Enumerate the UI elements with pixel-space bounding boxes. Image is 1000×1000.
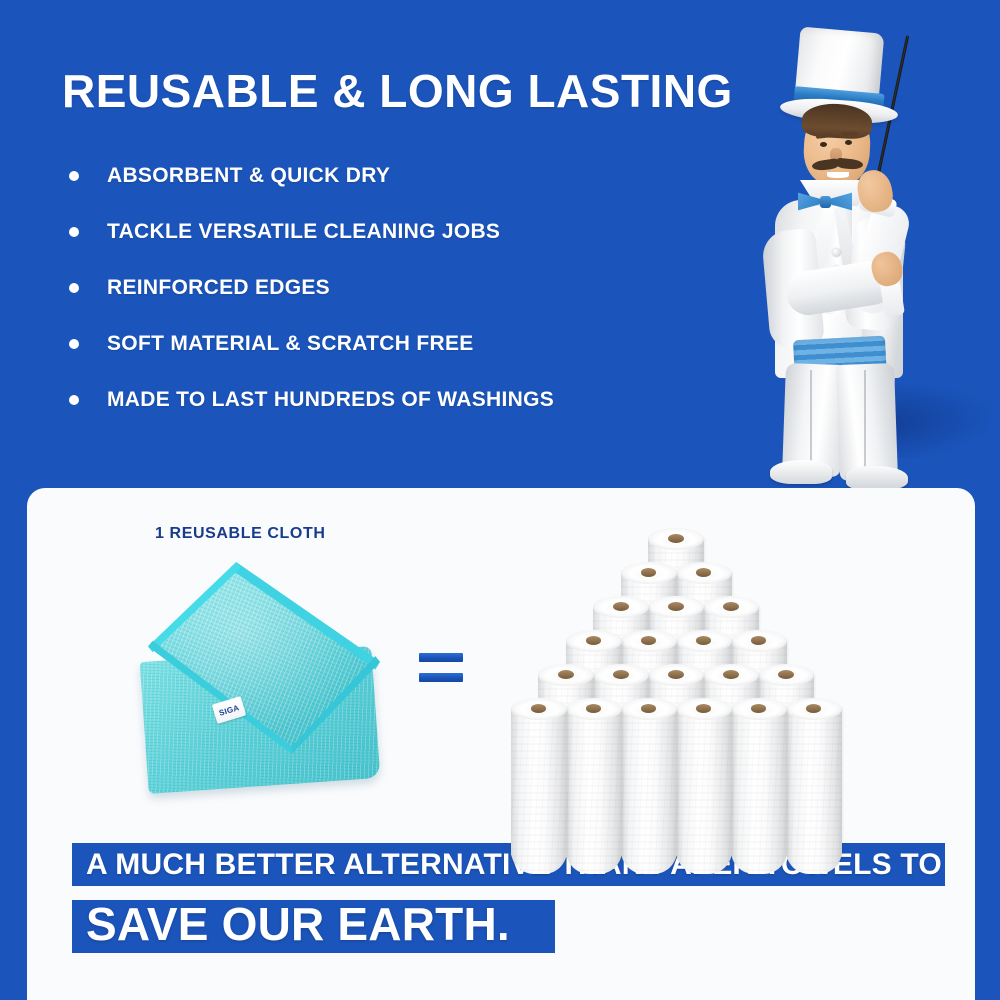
roll-cardboard-core — [668, 534, 684, 543]
bullet-dot-icon — [69, 171, 79, 181]
roll-body — [621, 708, 677, 874]
list-item: ABSORBENT & QUICK DRY — [62, 148, 702, 204]
feature-label: MADE TO LAST HUNDREDS OF WASHINGS — [107, 388, 554, 412]
shoe-left — [770, 460, 832, 484]
mascot-eye-right — [845, 140, 852, 145]
roll-cardboard-core — [613, 670, 629, 679]
brand-tag-text: SIGA — [218, 703, 240, 718]
roll-body — [676, 708, 732, 874]
equals-sign-icon — [419, 653, 463, 687]
jacket-button — [832, 248, 841, 257]
shoe-right — [846, 466, 908, 490]
roll-body — [786, 708, 842, 874]
list-item: TACKLE VERSATILE CLEANING JOBS — [62, 204, 702, 260]
trouser-crease-left — [810, 370, 812, 474]
bullet-dot-icon — [69, 227, 79, 237]
feature-list: ABSORBENT & QUICK DRY TACKLE VERSATILE C… — [62, 148, 702, 428]
paper-towel-roll — [621, 698, 677, 874]
bullet-dot-icon — [69, 283, 79, 293]
microfiber-cloth-image: SIGA — [138, 558, 396, 800]
list-item: REINFORCED EDGES — [62, 260, 702, 316]
feature-label: SOFT MATERIAL & SCRATCH FREE — [107, 332, 474, 356]
trouser-crease-right — [864, 370, 866, 476]
mascot-eye-left — [820, 142, 827, 147]
feature-label: TACKLE VERSATILE CLEANING JOBS — [107, 220, 500, 244]
cloth-label: 1 REUSABLE CLOTH — [155, 525, 326, 543]
list-item: SOFT MATERIAL & SCRATCH FREE — [62, 316, 702, 372]
roll-cardboard-core — [613, 602, 629, 611]
bullet-dot-icon — [69, 395, 79, 405]
roll-body — [731, 708, 787, 874]
gentleman-mascot-illustration — [742, 8, 1000, 478]
paper-towel-row — [511, 698, 842, 874]
paper-towel-pyramid — [504, 528, 848, 812]
feature-label: REINFORCED EDGES — [107, 276, 330, 300]
roll-cardboard-core — [668, 602, 684, 611]
page-title: REUSABLE & LONG LASTING — [62, 64, 733, 118]
paper-towel-roll — [731, 698, 787, 874]
roll-cardboard-core — [558, 670, 574, 679]
hero-section: REUSABLE & LONG LASTING ABSORBENT & QUIC… — [0, 0, 1000, 490]
paper-towel-roll — [566, 698, 622, 874]
paper-towel-roll — [676, 698, 732, 874]
trouser-leg-right — [836, 363, 898, 481]
paper-towel-roll — [511, 698, 567, 874]
equals-bar-bottom — [419, 673, 463, 682]
bow-tie-knot — [820, 196, 831, 208]
roll-cardboard-core — [668, 670, 684, 679]
roll-body — [511, 708, 567, 874]
feature-label: ABSORBENT & QUICK DRY — [107, 164, 390, 188]
paper-towel-roll — [786, 698, 842, 874]
equals-bar-top — [419, 653, 463, 662]
roll-cardboard-core — [723, 670, 739, 679]
roll-body — [566, 708, 622, 874]
list-item: MADE TO LAST HUNDREDS OF WASHINGS — [62, 372, 702, 428]
roll-cardboard-core — [778, 670, 794, 679]
bullet-dot-icon — [69, 339, 79, 349]
roll-cardboard-core — [723, 602, 739, 611]
